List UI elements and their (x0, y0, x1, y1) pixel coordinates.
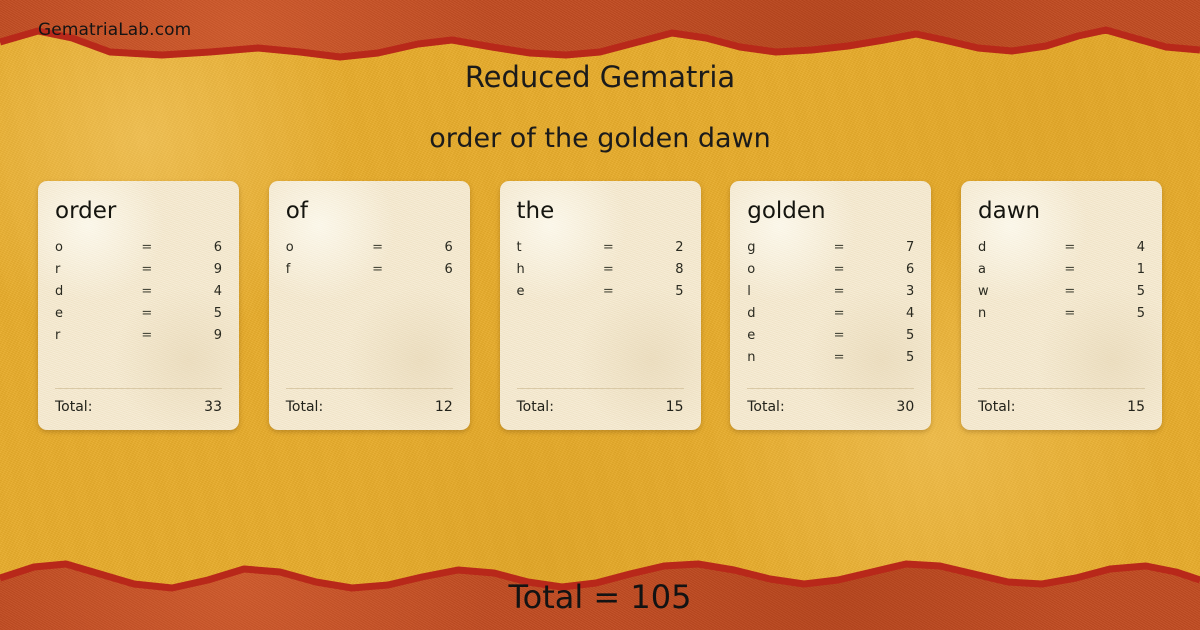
word-card: ofo=6f=6Total:12 (269, 181, 470, 430)
letter-value: 4 (857, 306, 914, 321)
letter: r (55, 262, 128, 277)
letter-value-rows: t=2h=8e=5 (517, 240, 684, 388)
word-total-label: Total: (55, 399, 92, 415)
letter-value-row: e=5 (517, 284, 684, 306)
word-total-row: Total:30 (747, 399, 914, 415)
word-total-label: Total: (747, 399, 784, 415)
divider (517, 388, 684, 389)
word-total-row: Total:33 (55, 399, 222, 415)
letter-value: 6 (396, 240, 453, 255)
word-card-title: order (55, 199, 222, 223)
word-total-value: 15 (1127, 399, 1145, 415)
word-card-footer: Total:12 (286, 388, 453, 430)
equals-sign: = (128, 284, 165, 299)
equals-sign: = (1051, 262, 1088, 277)
letter: r (55, 328, 128, 343)
letter-value: 5 (627, 284, 684, 299)
letter-value-row: o=6 (747, 262, 914, 284)
equals-sign: = (821, 350, 858, 365)
grand-total: Total = 105 (0, 578, 1200, 616)
site-logo[interactable]: GematriaLab.com (38, 20, 191, 40)
word-total-value: 12 (435, 399, 453, 415)
letter-value-row: e=5 (55, 306, 222, 328)
word-total-value: 15 (666, 399, 684, 415)
letter-value-row: e=5 (747, 328, 914, 350)
divider (747, 388, 914, 389)
letter-value: 5 (1088, 284, 1145, 299)
word-card-title: of (286, 199, 453, 223)
letter-value: 6 (857, 262, 914, 277)
word-total-value: 33 (204, 399, 222, 415)
letter: n (978, 306, 1051, 321)
equals-sign: = (128, 328, 165, 343)
phrase-subtitle: order of the golden dawn (0, 123, 1200, 154)
letter-value-row: f=6 (286, 262, 453, 284)
letter: d (55, 284, 128, 299)
letter-value-row: l=3 (747, 284, 914, 306)
page-title: Reduced Gematria (0, 60, 1200, 94)
equals-sign: = (128, 240, 165, 255)
word-card-title: golden (747, 199, 914, 223)
equals-sign: = (1051, 240, 1088, 255)
letter: d (747, 306, 820, 321)
letter: o (55, 240, 128, 255)
letter-value: 4 (165, 284, 222, 299)
letter: t (517, 240, 590, 255)
equals-sign: = (128, 262, 165, 277)
letter: d (978, 240, 1051, 255)
letter-value-row: d=4 (55, 284, 222, 306)
letter-value: 5 (857, 350, 914, 365)
word-total-label: Total: (978, 399, 1015, 415)
word-card-title: dawn (978, 199, 1145, 223)
word-card: dawnd=4a=1w=5n=5Total:15 (961, 181, 1162, 430)
letter-value: 1 (1088, 262, 1145, 277)
equals-sign: = (821, 328, 858, 343)
letter-value-row: o=6 (55, 240, 222, 262)
word-card-title: the (517, 199, 684, 223)
word-card: ordero=6r=9d=4e=5r=9Total:33 (38, 181, 239, 430)
letter-value-row: n=5 (978, 306, 1145, 328)
letter-value-rows: g=7o=6l=3d=4e=5n=5 (747, 240, 914, 388)
letter: l (747, 284, 820, 299)
letter-value: 4 (1088, 240, 1145, 255)
letter-value-rows: d=4a=1w=5n=5 (978, 240, 1145, 388)
letter-value-row: r=9 (55, 262, 222, 284)
gematria-result-card: GematriaLab.com Reduced Gematria order o… (0, 0, 1200, 630)
letter: e (55, 306, 128, 321)
word-total-row: Total:12 (286, 399, 453, 415)
letter-value-row: t=2 (517, 240, 684, 262)
letter-value: 8 (627, 262, 684, 277)
letter-value: 6 (165, 240, 222, 255)
letter-value: 6 (396, 262, 453, 277)
letter: g (747, 240, 820, 255)
letter: e (747, 328, 820, 343)
letter: o (286, 240, 359, 255)
equals-sign: = (821, 284, 858, 299)
word-total-row: Total:15 (978, 399, 1145, 415)
letter: n (747, 350, 820, 365)
letter: a (978, 262, 1051, 277)
letter-value-row: g=7 (747, 240, 914, 262)
equals-sign: = (590, 284, 627, 299)
word-card-footer: Total:15 (978, 388, 1145, 430)
equals-sign: = (128, 306, 165, 321)
letter-value: 9 (165, 328, 222, 343)
letter: f (286, 262, 359, 277)
letter-value-row: o=6 (286, 240, 453, 262)
divider (978, 388, 1145, 389)
letter-value-rows: o=6f=6 (286, 240, 453, 388)
divider (286, 388, 453, 389)
letter-value: 5 (1088, 306, 1145, 321)
equals-sign: = (359, 240, 396, 255)
word-total-row: Total:15 (517, 399, 684, 415)
word-total-value: 30 (896, 399, 914, 415)
letter-value: 7 (857, 240, 914, 255)
letter-value: 9 (165, 262, 222, 277)
letter: w (978, 284, 1051, 299)
letter-value-row: h=8 (517, 262, 684, 284)
letter-value-row: d=4 (978, 240, 1145, 262)
letter-value-row: r=9 (55, 328, 222, 350)
divider (55, 388, 222, 389)
letter-value: 2 (627, 240, 684, 255)
word-card-list: ordero=6r=9d=4e=5r=9Total:33ofo=6f=6Tota… (38, 181, 1162, 430)
equals-sign: = (821, 262, 858, 277)
equals-sign: = (359, 262, 396, 277)
word-total-label: Total: (286, 399, 323, 415)
letter-value: 5 (165, 306, 222, 321)
letter-value-row: a=1 (978, 262, 1145, 284)
equals-sign: = (821, 240, 858, 255)
equals-sign: = (1051, 306, 1088, 321)
word-card-footer: Total:15 (517, 388, 684, 430)
equals-sign: = (590, 240, 627, 255)
word-card: goldeng=7o=6l=3d=4e=5n=5Total:30 (730, 181, 931, 430)
letter-value-rows: o=6r=9d=4e=5r=9 (55, 240, 222, 388)
letter: e (517, 284, 590, 299)
letter-value: 5 (857, 328, 914, 343)
word-total-label: Total: (517, 399, 554, 415)
letter-value-row: w=5 (978, 284, 1145, 306)
word-card-footer: Total:33 (55, 388, 222, 430)
letter-value-row: d=4 (747, 306, 914, 328)
letter: o (747, 262, 820, 277)
word-card: thet=2h=8e=5Total:15 (500, 181, 701, 430)
equals-sign: = (590, 262, 627, 277)
equals-sign: = (821, 306, 858, 321)
letter-value: 3 (857, 284, 914, 299)
equals-sign: = (1051, 284, 1088, 299)
word-card-footer: Total:30 (747, 388, 914, 430)
letter-value-row: n=5 (747, 350, 914, 372)
letter: h (517, 262, 590, 277)
